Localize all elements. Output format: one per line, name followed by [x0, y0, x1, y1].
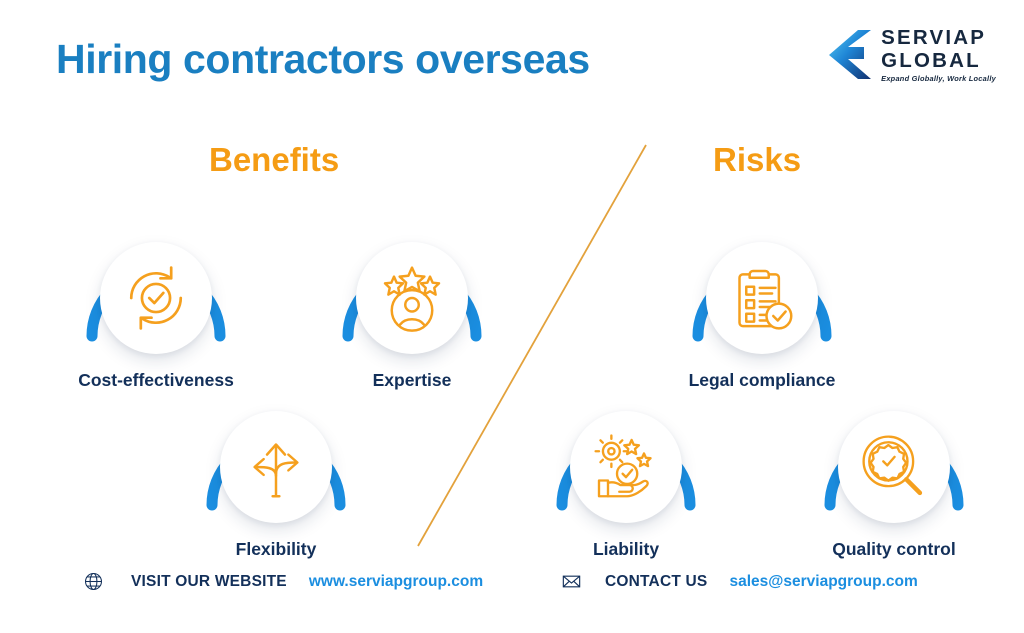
logo-tagline: Expand Globally, Work Locally [881, 75, 996, 82]
icon-disc [356, 242, 468, 354]
badge-cost-effectiveness [72, 214, 240, 364]
footer-contact-link[interactable]: sales@serviapgroup.com [729, 573, 917, 591]
brand-logo: SERVIAP GLOBAL Expand Globally, Work Loc… [828, 28, 996, 82]
footer-contact-caption: CONTACT US [605, 573, 707, 591]
badge-expertise [328, 214, 496, 364]
icon-disc [220, 411, 332, 523]
icon-disc [570, 411, 682, 523]
footer-website-link[interactable]: www.serviapgroup.com [309, 573, 483, 591]
hand-check-gear-icon [590, 431, 662, 503]
badge-legal-compliance [678, 214, 846, 364]
section-heading-benefits: Benefits [209, 141, 339, 179]
badge-quality-control [810, 383, 978, 533]
cycle-arrows-check-icon [120, 262, 192, 334]
card-label: Liability [542, 539, 710, 560]
page-title: Hiring contractors overseas [56, 36, 590, 83]
footer-website-group: VISIT OUR WEBSITE www.serviapgroup.com [84, 572, 483, 591]
card-quality-control[interactable]: Quality control [810, 383, 978, 560]
serviap-chevron-icon [828, 29, 872, 81]
card-legal-compliance[interactable]: Legal compliance [678, 214, 846, 391]
logo-name-line1: SERVIAP [881, 28, 996, 49]
card-label: Flexibility [192, 539, 360, 560]
logo-name-line2: GLOBAL [881, 51, 996, 72]
magnifier-badge-check-icon [858, 431, 930, 503]
card-label: Quality control [810, 539, 978, 560]
card-flexibility[interactable]: Flexibility [192, 383, 360, 560]
badge-liability [542, 383, 710, 533]
clipboard-checklist-icon [726, 262, 798, 334]
footer-website-caption: VISIT OUR WEBSITE [131, 573, 287, 591]
section-heading-risks: Risks [713, 141, 801, 179]
person-three-stars-icon [376, 262, 448, 334]
globe-icon [84, 572, 103, 591]
three-way-arrows-icon [240, 431, 312, 503]
infographic-canvas: Hiring contractors overseas SERVIAP GLOB… [0, 0, 1024, 633]
envelope-icon [562, 572, 581, 591]
card-liability[interactable]: Liability [542, 383, 710, 560]
card-cost-effectiveness[interactable]: Cost-effectiveness [72, 214, 240, 391]
icon-disc [838, 411, 950, 523]
icon-disc [100, 242, 212, 354]
footer-contact-group: CONTACT US sales@serviapgroup.com [562, 572, 918, 591]
card-expertise[interactable]: Expertise [328, 214, 496, 391]
icon-disc [706, 242, 818, 354]
footer: VISIT OUR WEBSITE www.serviapgroup.com C… [0, 572, 1024, 604]
badge-flexibility [192, 383, 360, 533]
